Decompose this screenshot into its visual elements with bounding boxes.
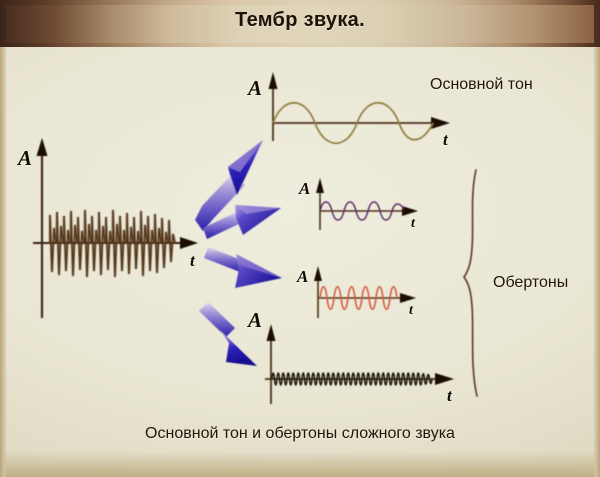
axis-label-t-complex: t	[190, 252, 195, 269]
axis-label-A-overtone-2: A	[297, 268, 308, 285]
plot-overtone-2	[314, 266, 416, 318]
axis-y-arrowhead-overtone-2	[314, 266, 322, 281]
axis-y-arrowhead-complex	[37, 138, 48, 156]
overtones-brace	[464, 170, 477, 396]
slide-canvas: Тембр звука.	[0, 0, 600, 477]
axis-y-arrowhead-fundamental	[269, 72, 278, 89]
axis-label-A-overtone-3: A	[248, 310, 262, 331]
axis-x-arrowhead-complex	[180, 237, 198, 249]
plot-fundamental	[269, 72, 451, 143]
axis-label-t-overtone-3: t	[447, 387, 452, 404]
axis-x-arrowhead-overtone-2	[400, 293, 416, 303]
axis-label-t-overtone-2: t	[409, 304, 413, 318]
axis-x-arrowhead-overtone-1	[402, 206, 418, 216]
axis-y-arrowhead-overtone-3	[267, 324, 276, 341]
axis-label-A-fundamental: A	[248, 78, 262, 99]
arrow-to-overtone-2	[204, 247, 282, 288]
label-fundamental-tone: Основной тон	[430, 76, 533, 94]
axis-label-A-complex: A	[18, 148, 32, 169]
axis-label-t-overtone-1: t	[411, 217, 415, 231]
plot-overtone-3	[265, 324, 454, 404]
axis-y-arrowhead-overtone-1	[316, 178, 324, 193]
plot-overtone-1	[316, 178, 418, 230]
caption-bottom: Основной тон и обертоны сложного звука	[0, 425, 600, 443]
axis-label-t-fundamental: t	[443, 131, 448, 148]
label-overtones: Обертоны	[493, 274, 568, 292]
axis-label-A-overtone-1: A	[299, 180, 310, 197]
diagram-graphics	[0, 0, 600, 477]
axis-x-arrowhead-overtone-3	[435, 373, 454, 385]
axis-x-arrowhead-fundamental	[431, 117, 450, 129]
